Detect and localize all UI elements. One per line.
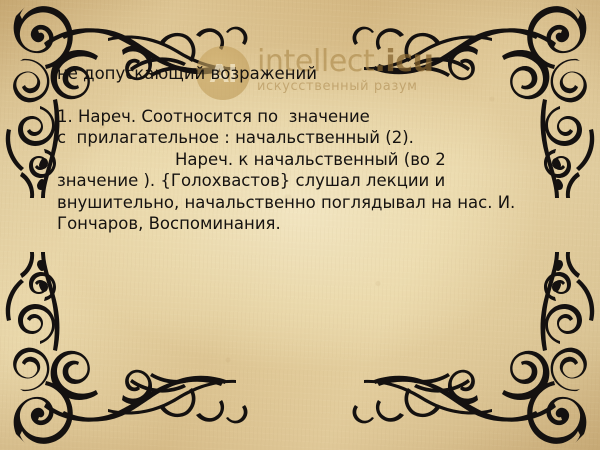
entry-text: 1. Нареч. Соотносится по значение с прил… — [57, 106, 557, 149]
slide-text-content: не допускающий возражений 1. Нареч. Соот… — [57, 63, 557, 235]
lead-text: не допускающий возражений — [57, 63, 557, 85]
slide-canvas: AI intellect.icu искусственный разум не … — [0, 0, 600, 450]
flourish-ornament-bottom-right — [342, 252, 600, 448]
definition-body: Нареч. к начальственный (во 2 значение )… — [57, 150, 515, 234]
flourish-ornament-bottom-left — [0, 252, 258, 448]
definition-text: Нареч. к начальственный (во 2 значение )… — [57, 149, 557, 235]
